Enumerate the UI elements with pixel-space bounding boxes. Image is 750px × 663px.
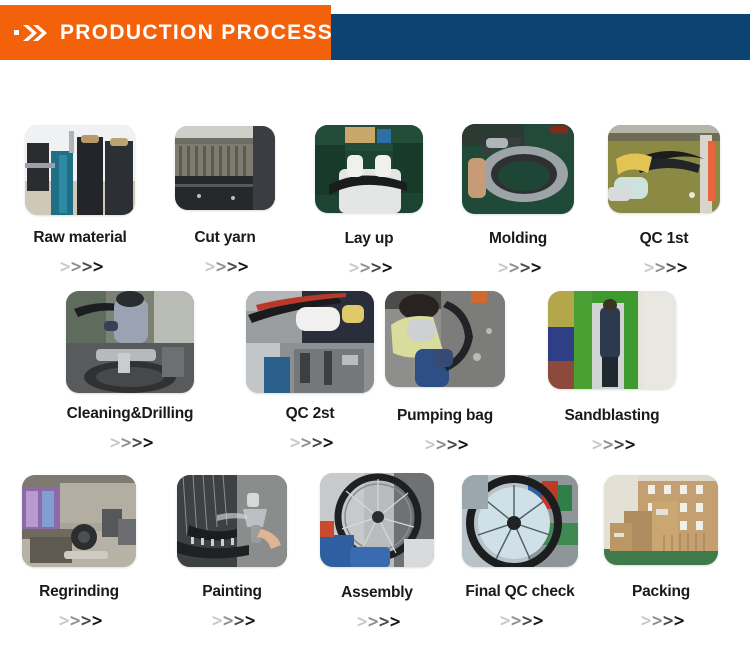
step-cell-qc-1st[interactable]: QC 1st > > > > xyxy=(608,125,720,277)
chevron-1: > xyxy=(356,614,368,631)
step-label: Cleaning&Drilling xyxy=(67,405,194,423)
arrow-chevrons: > > > > xyxy=(288,435,333,452)
chevron-1: > xyxy=(109,435,121,452)
arrow-chevrons: > > > > xyxy=(347,260,392,277)
step-label: Sandblasting xyxy=(565,407,660,425)
header-orange-banner: PRODUCTION PROCESS xyxy=(0,5,331,60)
assembly-photo xyxy=(320,473,434,567)
step-label: QC 1st xyxy=(640,230,689,248)
chevron-4: > xyxy=(389,614,401,631)
chevron-1: > xyxy=(58,613,70,630)
chevron-1: > xyxy=(211,613,223,630)
chevron-4: > xyxy=(532,613,544,630)
page-header: PRODUCTION PROCESS xyxy=(0,0,750,62)
step-label: Molding xyxy=(489,230,547,248)
arrow-chevrons: > > > > xyxy=(203,259,248,276)
step-label: Packing xyxy=(632,583,690,601)
step-label: Cut yarn xyxy=(194,229,255,247)
arrow-chevrons: > > > > xyxy=(108,435,153,452)
step-cell-raw-material[interactable]: Raw material > > > > xyxy=(25,125,135,276)
page-title: PRODUCTION PROCESS xyxy=(60,21,333,45)
chevron-1: > xyxy=(643,260,655,277)
step-cell-painting[interactable]: Painting > > > > xyxy=(177,475,287,630)
step-cell-lay-up[interactable]: Lay up > > > > xyxy=(315,125,423,277)
step-cell-assembly[interactable]: Assembly > > > > xyxy=(320,473,434,631)
final-qc-check-photo xyxy=(462,475,578,567)
chevron-4: > xyxy=(624,437,636,454)
pumping-bag-photo xyxy=(385,291,505,387)
qc-1st-photo xyxy=(608,125,720,213)
arrow-chevrons: > > > > xyxy=(423,437,468,454)
chevron-1: > xyxy=(591,437,603,454)
step-cell-final-qc-check[interactable]: Final QC check > > > > xyxy=(462,475,578,630)
lay-up-photo xyxy=(315,125,423,213)
step-label: Assembly xyxy=(341,584,413,602)
step-cell-packing[interactable]: Packing > > > > xyxy=(604,475,718,630)
chevron-4: > xyxy=(244,613,256,630)
chevron-dot xyxy=(14,30,19,35)
step-cell-sandblasting[interactable]: Sandblasting > > > > xyxy=(548,291,676,454)
chevron-1: > xyxy=(640,613,652,630)
arrow-chevrons: > > > > xyxy=(210,613,255,630)
chevron-1: > xyxy=(289,435,301,452)
arrow-chevrons: > > > > xyxy=(355,614,400,631)
step-cell-qc-2st[interactable]: QC 2st > > > > xyxy=(246,291,374,452)
step-label: Final QC check xyxy=(465,583,574,601)
step-label: Raw material xyxy=(33,229,126,247)
cut-yarn-photo xyxy=(175,126,275,210)
step-label: QC 2st xyxy=(286,405,335,423)
step-cell-molding[interactable]: Molding > > > > xyxy=(462,124,574,277)
chevron-1: > xyxy=(204,259,216,276)
double-chevron-icon xyxy=(14,23,47,43)
step-label: Pumping bag xyxy=(397,407,493,425)
chevron-1: > xyxy=(348,260,360,277)
painting-photo xyxy=(177,475,287,567)
step-cell-cut-yarn[interactable]: Cut yarn > > > > xyxy=(175,126,275,276)
chevron-4: > xyxy=(142,435,154,452)
step-label: Lay up xyxy=(345,230,394,248)
regrinding-photo xyxy=(22,475,136,567)
arrow-chevrons: > > > > xyxy=(496,260,541,277)
chevron-4: > xyxy=(530,260,542,277)
step-label: Regrinding xyxy=(39,583,119,601)
arrow-chevrons: > > > > xyxy=(498,613,543,630)
chevron-4: > xyxy=(322,435,334,452)
chevron-1: > xyxy=(59,259,71,276)
raw-material-photo xyxy=(25,125,135,215)
chevron-1: > xyxy=(424,437,436,454)
chevron-4: > xyxy=(676,260,688,277)
cleaning-drilling-photo xyxy=(66,291,194,393)
chevron-1: > xyxy=(499,613,511,630)
packing-photo xyxy=(604,475,718,565)
production-process-infographic: PRODUCTION PROCESS Raw material > xyxy=(0,0,750,663)
arrow-chevrons: > > > > xyxy=(590,437,635,454)
chevron-4: > xyxy=(381,260,393,277)
chevron-4: > xyxy=(673,613,685,630)
step-cell-regrinding[interactable]: Regrinding > > > > xyxy=(22,475,136,630)
sandblasting-photo xyxy=(548,291,676,389)
arrow-chevrons: > > > > xyxy=(639,613,684,630)
arrow-chevrons: > > > > xyxy=(58,259,103,276)
qc-2st-photo xyxy=(246,291,374,393)
chevron-4: > xyxy=(91,613,103,630)
chevron-4: > xyxy=(237,259,249,276)
arrow-chevrons: > > > > xyxy=(642,260,687,277)
step-label: Painting xyxy=(202,583,262,601)
arrow-chevrons: > > > > xyxy=(57,613,102,630)
molding-photo xyxy=(462,124,574,214)
step-cell-pumping-bag[interactable]: Pumping bag > > > > xyxy=(385,291,505,454)
chevron-1: > xyxy=(497,260,509,277)
chevron-4: > xyxy=(457,437,469,454)
chevron-4: > xyxy=(92,259,104,276)
step-cell-cleaning-drilling[interactable]: Cleaning&Drilling > > > > xyxy=(66,291,194,452)
